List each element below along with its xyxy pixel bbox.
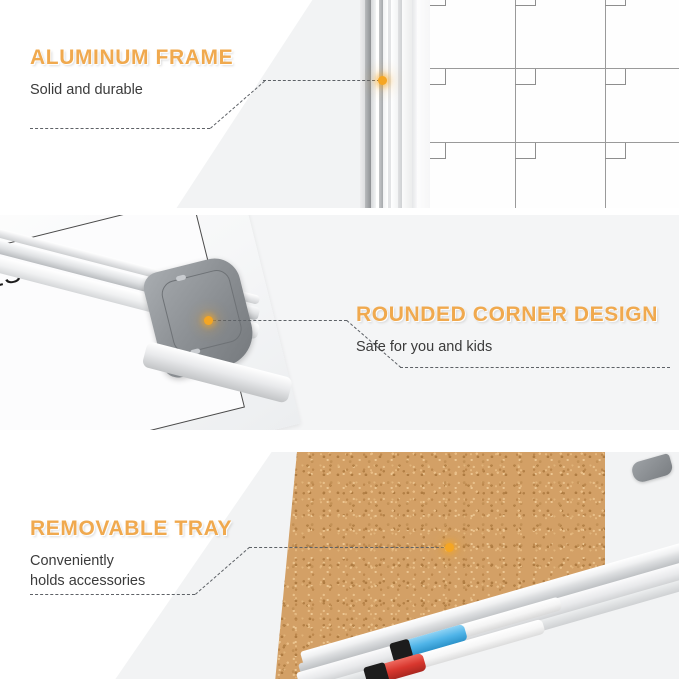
aluminum-frame-rail	[360, 0, 430, 208]
panel-text-block: ALUMINUM FRAME Solid and durable	[30, 46, 233, 100]
panel-headline: ROUNDED CORNER DESIGN	[356, 303, 658, 327]
panel-aluminum-frame: ALUMINUM FRAME Solid and durable	[0, 0, 679, 208]
callout-line-underline	[400, 367, 670, 368]
panel-subline: Solid and durable	[30, 80, 233, 100]
panel-removable-tray: REMOVABLE TRAY Conveniently holds access…	[0, 452, 679, 679]
callout-line-horizontal	[249, 547, 449, 548]
panel-subline: Conveniently holds accessories	[30, 551, 232, 591]
callout-line-upper	[263, 80, 380, 81]
tray-marker-hotspot[interactable]	[445, 543, 454, 552]
callout-line-horizontal	[30, 128, 210, 129]
infographic-sheet: ALUMINUM FRAME Solid and durable NOTES	[0, 0, 679, 679]
corner-cap-plate	[159, 267, 245, 356]
panel-subline: Safe for you and kids	[356, 337, 658, 357]
callout-line-underline	[30, 594, 195, 595]
corner-cap-hotspot[interactable]	[204, 316, 213, 325]
panel-headline: REMOVABLE TRAY	[30, 517, 232, 541]
panel-text-block: REMOVABLE TRAY Conveniently holds access…	[30, 517, 232, 591]
panel-text-block: ROUNDED CORNER DESIGN Safe for you and k…	[356, 303, 658, 357]
planner-grid-whiteboard	[425, 0, 679, 208]
frame-edge-hotspot[interactable]	[378, 76, 387, 85]
panel-headline: ALUMINUM FRAME	[30, 46, 233, 70]
callout-line-horizontal	[213, 320, 347, 321]
panel-rounded-corner-design: NOTES ROUNDED CORNER DESIGN Safe for you…	[0, 215, 679, 430]
